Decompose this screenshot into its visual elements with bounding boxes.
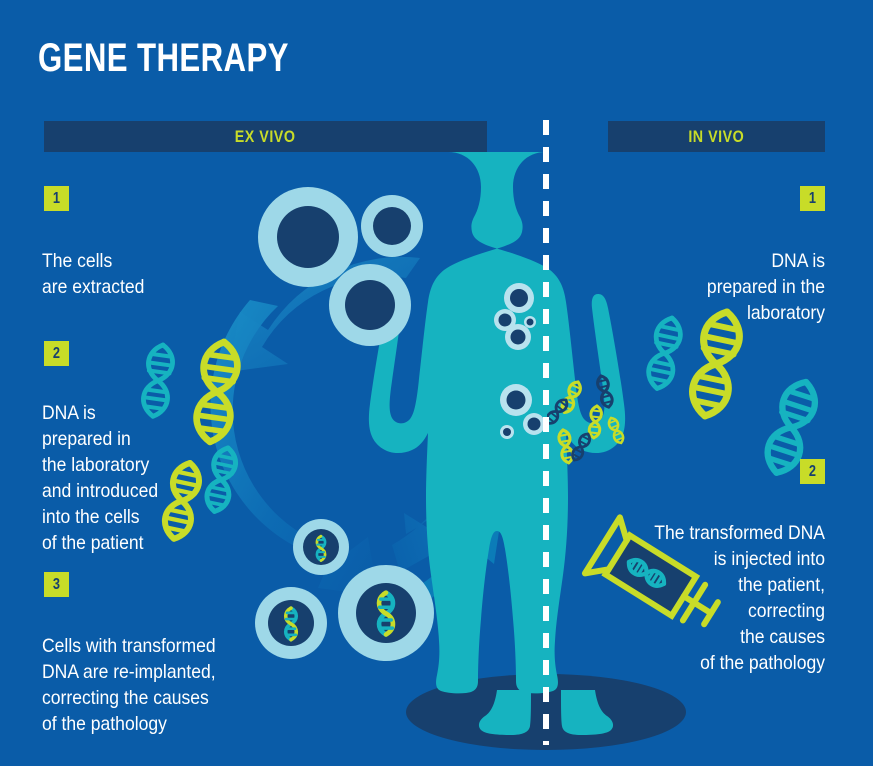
banner-ex-vivo-label: EX VIVO — [235, 127, 296, 147]
step-badge-ex-vivo-3: 3 — [44, 572, 69, 597]
banner-in-vivo: IN VIVO — [608, 121, 825, 152]
page-title: GENE THERAPY — [38, 38, 289, 78]
step-badge-ex-vivo-1: 1 — [44, 186, 69, 211]
step-text-in-vivo-1: DNA is prepared in the laboratory — [565, 222, 825, 352]
step-number: 2 — [53, 346, 60, 362]
step-text: The transformed DNA is injected into the… — [555, 520, 825, 676]
step-number: 1 — [809, 191, 816, 207]
infographic-canvas: GENE THERAPY EX VIVO IN VIVO 1 The cells… — [0, 0, 873, 766]
step-number: 3 — [53, 577, 60, 593]
step-text-in-vivo-2: The transformed DNA is injected into the… — [525, 494, 825, 702]
step-text-ex-vivo-3: Cells with transformed DNA are re-implan… — [42, 607, 292, 763]
step-text: DNA is prepared in the laboratory and in… — [42, 400, 249, 556]
step-text-ex-vivo-2: DNA is prepared in the laboratory and in… — [42, 374, 272, 582]
banner-ex-vivo: EX VIVO — [44, 121, 487, 152]
step-text-ex-vivo-1: The cells are extracted — [42, 222, 272, 326]
step-text: Cells with transformed DNA are re-implan… — [42, 633, 267, 737]
step-badge-in-vivo-1: 1 — [800, 186, 825, 211]
banner-in-vivo-label: IN VIVO — [689, 127, 745, 147]
step-text: DNA is prepared in the laboratory — [591, 248, 825, 326]
step-badge-in-vivo-2: 2 — [800, 459, 825, 484]
step-text: The cells are extracted — [42, 248, 249, 300]
step-number: 2 — [809, 464, 816, 480]
step-number: 1 — [53, 191, 60, 207]
step-badge-ex-vivo-2: 2 — [44, 341, 69, 366]
